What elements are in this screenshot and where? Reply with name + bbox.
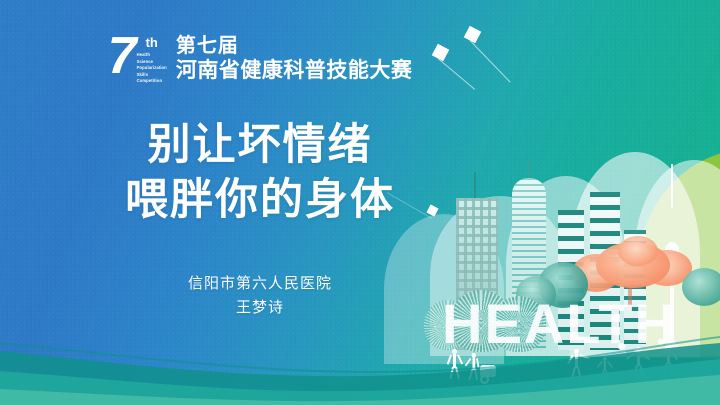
competition-edition-label: 第七届 bbox=[176, 36, 413, 58]
ball-icon bbox=[618, 343, 625, 350]
cherry-blossom-cluster bbox=[618, 236, 658, 266]
organization-name: 信阳市第六人民医院 bbox=[0, 272, 520, 296]
people-group-right bbox=[570, 341, 700, 385]
ordinal-seven-mark: 7 th Health Science Popularization Skill… bbox=[108, 34, 167, 85]
shuttlecock-icon bbox=[658, 339, 664, 345]
text-content-block: 7 th Health Science Popularization Skill… bbox=[0, 0, 520, 405]
competition-name: 第七届 河南省健康科普技能大赛 bbox=[176, 36, 413, 83]
title-line-2: 喂胖你的身体 bbox=[0, 173, 520, 228]
logo-en-line-3: Popularization bbox=[137, 65, 167, 72]
competition-full-name: 河南省健康科普技能大赛 bbox=[176, 60, 413, 83]
title-line-1: 别让坏情绪 bbox=[0, 118, 520, 173]
green-tree bbox=[682, 268, 720, 306]
presenter-name: 王梦诗 bbox=[0, 296, 520, 320]
presenter-byline: 信阳市第六人民医院 王梦诗 bbox=[0, 272, 520, 321]
ordinal-number: 7 bbox=[108, 34, 135, 80]
poster-canvas: HEALTH bbox=[0, 0, 720, 405]
page-title: 别让坏情绪 喂胖你的身体 bbox=[0, 118, 520, 228]
logo-en-line-5: Competition bbox=[137, 78, 167, 85]
competition-logo: 7 th Health Science Popularization Skill… bbox=[0, 34, 520, 85]
ordinal-suffix: th bbox=[137, 36, 167, 49]
